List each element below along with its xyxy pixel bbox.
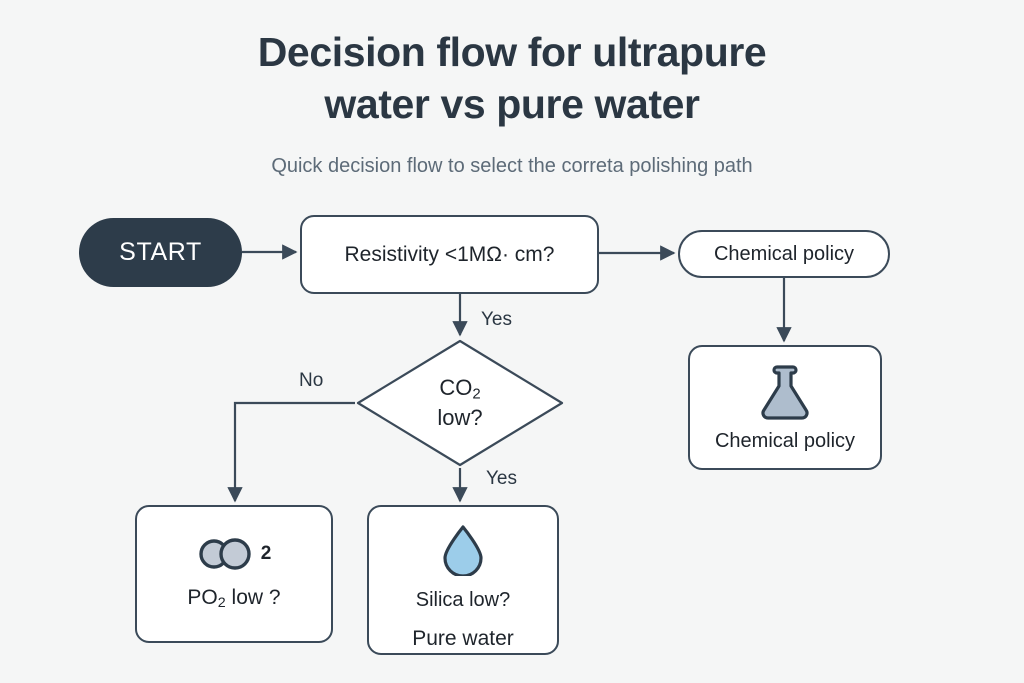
resistivity-label: Resistivity <1MΩ· cm? — [345, 241, 555, 268]
chemical-policy-card-label: Chemical policy — [715, 430, 855, 453]
water-droplet-icon — [441, 524, 485, 576]
chemical-policy-pill-label: Chemical policy — [714, 243, 854, 266]
start-label: START — [119, 238, 202, 267]
silica-card-label-2: Pure water — [412, 627, 514, 651]
co2-molecule-glyph — [197, 536, 261, 572]
node-start[interactable]: START — [79, 218, 242, 287]
edge-co2-to-po2-card — [235, 403, 355, 501]
node-co2-decision[interactable]: CO2 low? — [355, 338, 565, 468]
flask-icon — [757, 362, 813, 420]
po2-card-label: PO2 low ? — [187, 586, 280, 611]
flowchart-canvas: Decision flow for ultrapure water vs pur… — [0, 0, 1024, 683]
node-chemical-policy-card[interactable]: Chemical policy — [688, 345, 882, 470]
node-po2-card[interactable]: 2 PO2 low ? — [135, 505, 333, 643]
silica-card-label: Silica low? — [416, 589, 510, 612]
node-chemical-policy-pill[interactable]: Chemical policy — [678, 230, 890, 278]
edge-label-no: No — [299, 370, 323, 392]
co2-icon-number: 2 — [261, 543, 272, 565]
co2-decision-label: CO2 low? — [355, 338, 565, 468]
co2-decision-line-2: low? — [437, 404, 482, 432]
edge-label-yes-top: Yes — [481, 309, 512, 331]
co2-decision-line-1: CO2 — [439, 374, 480, 403]
edge-label-yes-bottom: Yes — [486, 468, 517, 490]
co2-molecule-icon: 2 — [197, 536, 272, 572]
node-silica-card[interactable]: Silica low? Pure water — [367, 505, 559, 655]
node-resistivity-question[interactable]: Resistivity <1MΩ· cm? — [300, 215, 599, 294]
